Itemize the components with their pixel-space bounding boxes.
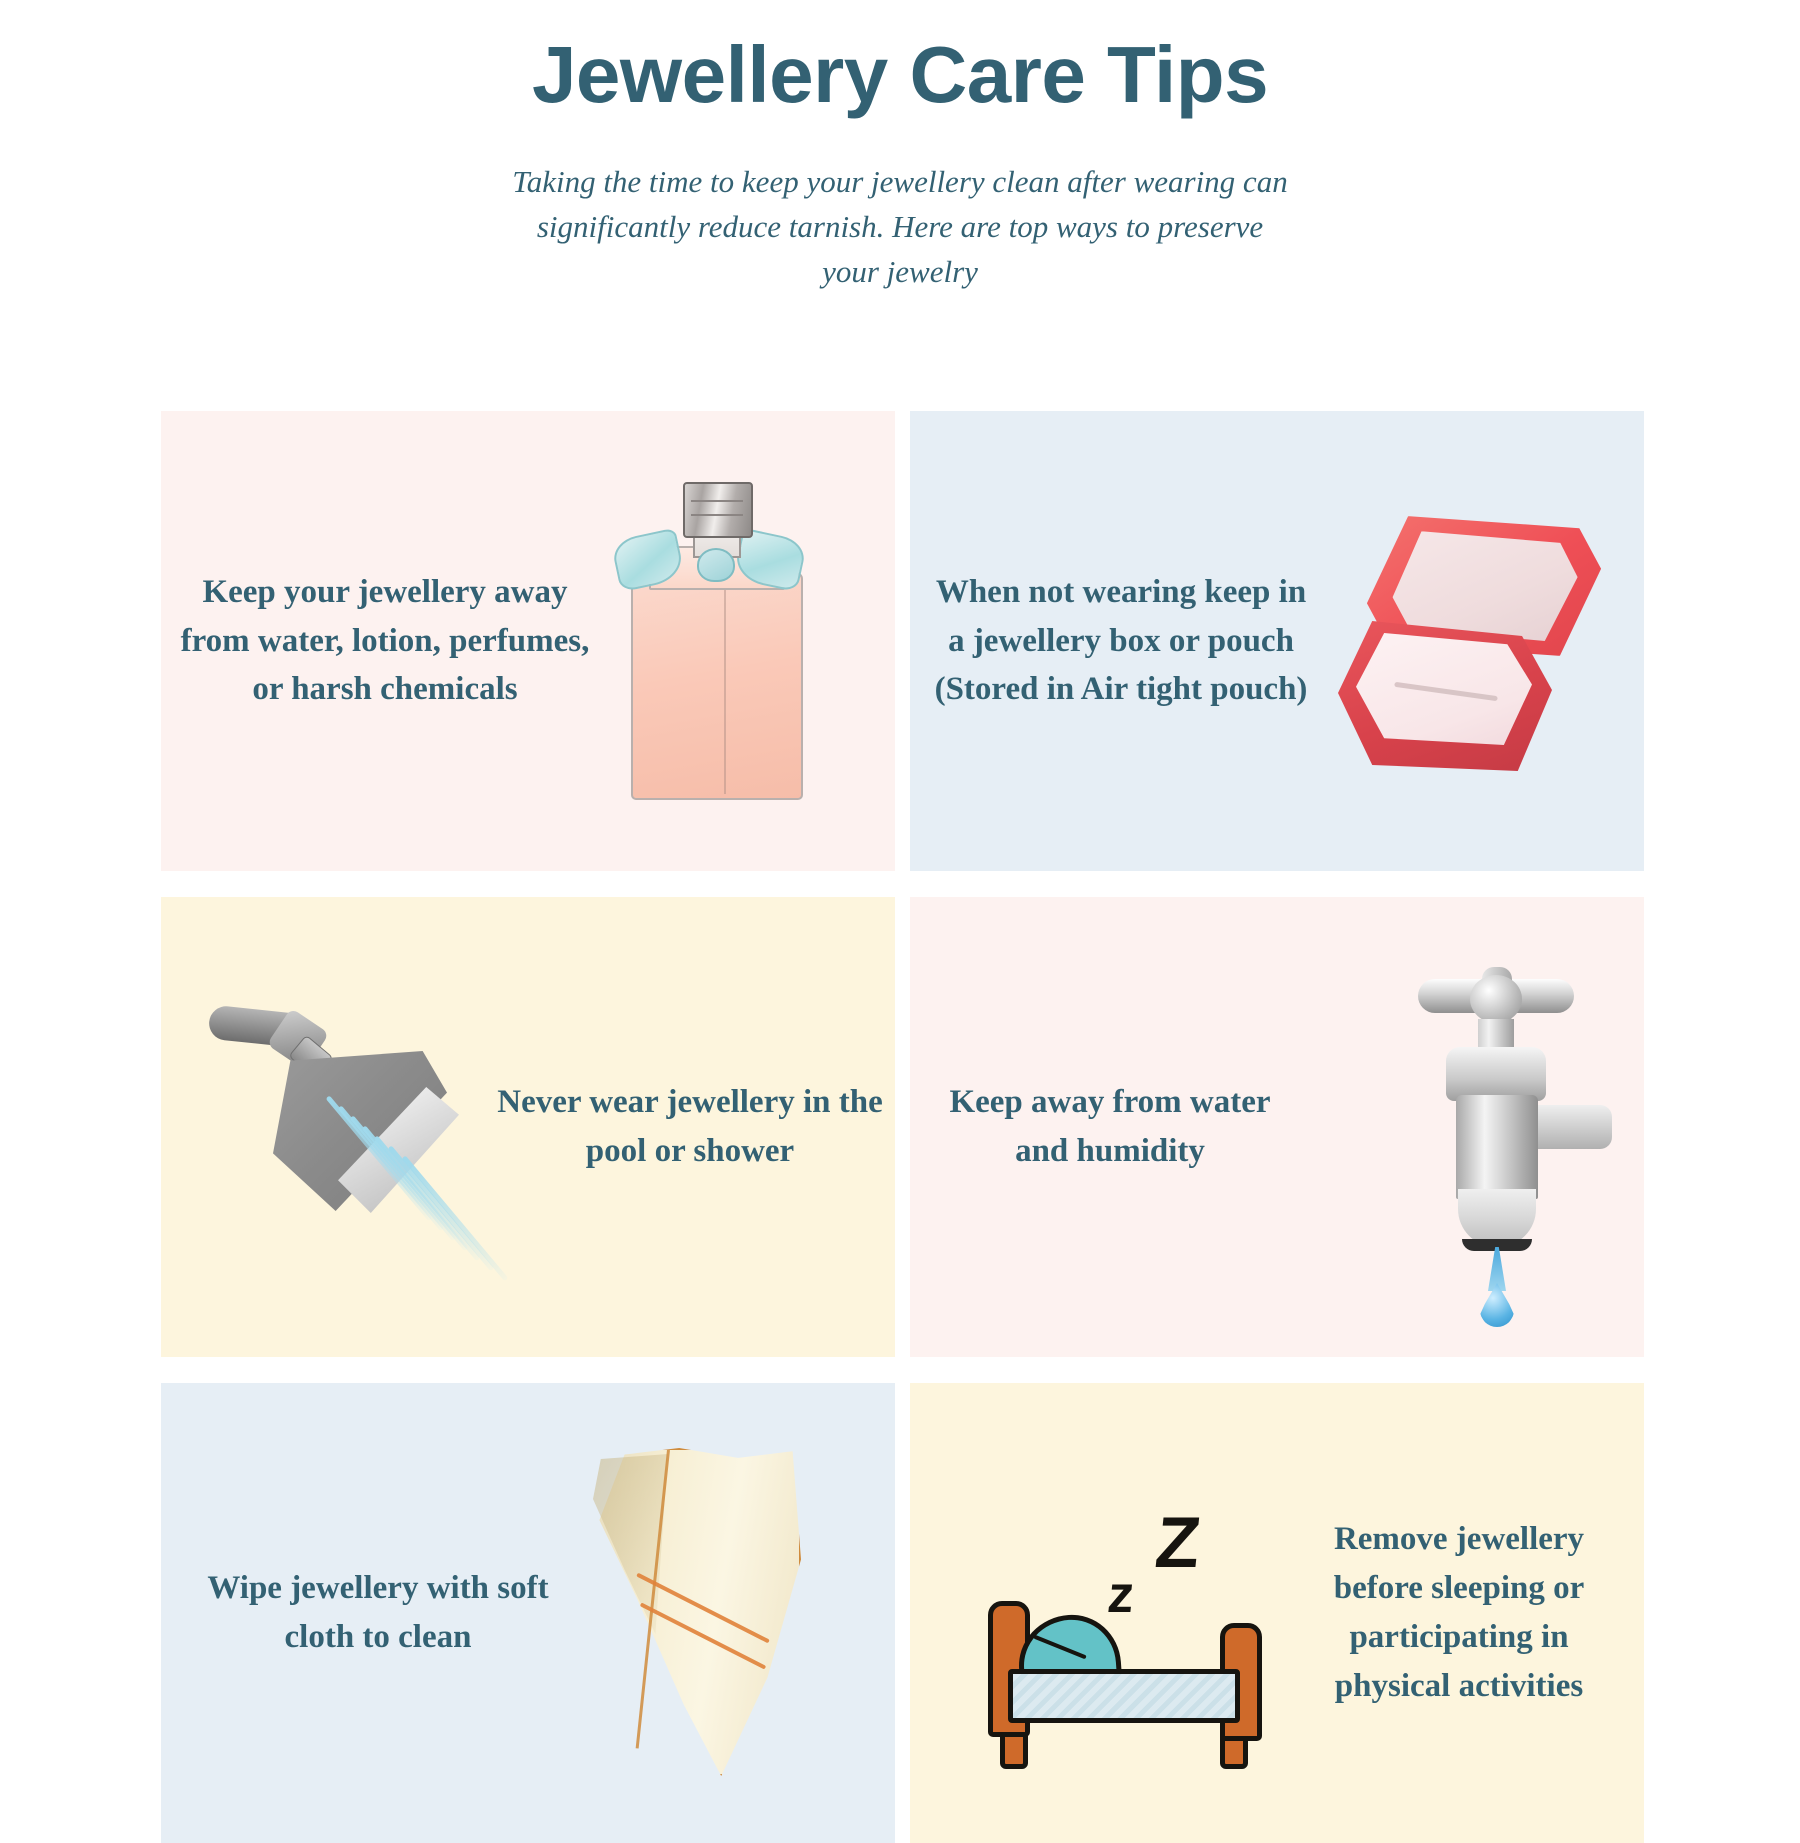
page-subtitle: Taking the time to keep your jewellery c… xyxy=(505,160,1295,295)
cloth-icon xyxy=(571,1438,831,1788)
card-chemicals[interactable]: Keep your jewellery away from water, lot… xyxy=(161,411,895,871)
shower-head-icon xyxy=(201,977,491,1277)
z-large-icon: Z xyxy=(1152,1507,1204,1579)
card-humidity-text: Keep away from water and humidity xyxy=(910,1078,1280,1176)
faucet-icon xyxy=(1344,967,1644,1287)
card-storage-text: When not wearing keep in a jewellery box… xyxy=(910,568,1310,714)
card-wipe[interactable]: Wipe jewellery with soft cloth to clean xyxy=(161,1383,895,1843)
page-title: Jewellery Care Tips xyxy=(0,28,1800,122)
card-sleep-text: Remove jewellery before sleeping or part… xyxy=(1300,1515,1644,1710)
header: Jewellery Care Tips Taking the time to k… xyxy=(0,0,1800,295)
infographic-page: Jewellery Care Tips Taking the time to k… xyxy=(0,0,1800,1800)
bed-sleeping-icon: z z Z xyxy=(970,1463,1300,1763)
card-humidity[interactable]: Keep away from water and humidity xyxy=(910,897,1644,1357)
tips-grid: Keep your jewellery away from water, lot… xyxy=(161,411,1644,1843)
card-wipe-text: Wipe jewellery with soft cloth to clean xyxy=(161,1564,561,1662)
card-chemicals-text: Keep your jewellery away from water, lot… xyxy=(161,568,591,714)
card-shower[interactable]: Never wear jewellery in the pool or show… xyxy=(161,897,895,1357)
perfume-bottle-icon xyxy=(597,476,837,806)
card-sleep[interactable]: z z Z Remove jewellery before sleeping o… xyxy=(910,1383,1644,1843)
card-shower-text: Never wear jewellery in the pool or show… xyxy=(495,1078,895,1176)
z-medium-icon: z xyxy=(1105,1569,1136,1621)
card-storage[interactable]: When not wearing keep in a jewellery box… xyxy=(910,411,1644,871)
jewellery-box-icon xyxy=(1332,501,1632,781)
